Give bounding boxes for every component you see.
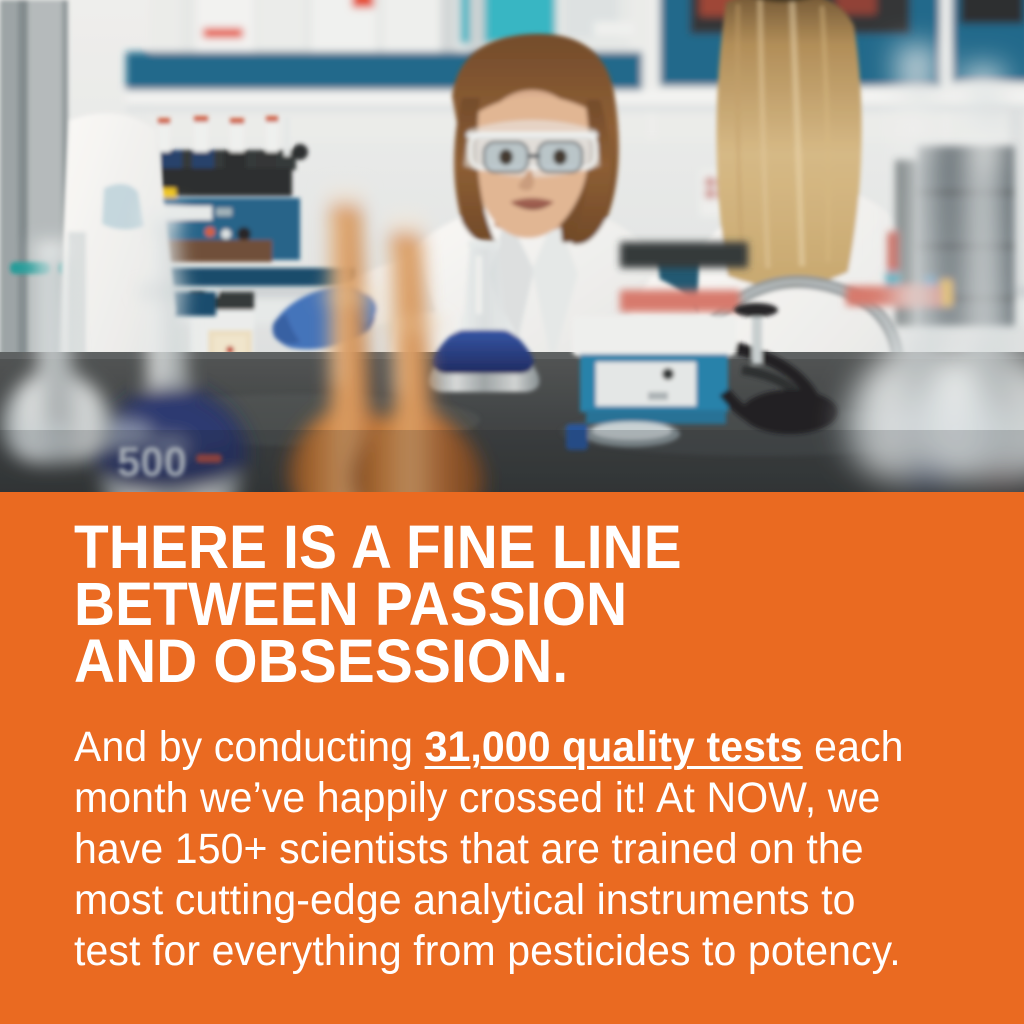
page-title: THERE IS A FINE LINE BETWEEN PASSION AND… [74, 519, 892, 690]
orange-message-panel: THERE IS A FINE LINE BETWEEN PASSION AND… [0, 492, 1024, 1024]
body-copy: And by conducting 31,000 quality tests e… [74, 722, 921, 977]
social-graphic-card: 500 [0, 0, 1024, 1024]
laboratory-photo: 500 [0, 0, 1024, 492]
stat-quality-tests: 31,000 quality tests [425, 724, 803, 771]
body-copy-before: And by conducting [74, 724, 425, 771]
